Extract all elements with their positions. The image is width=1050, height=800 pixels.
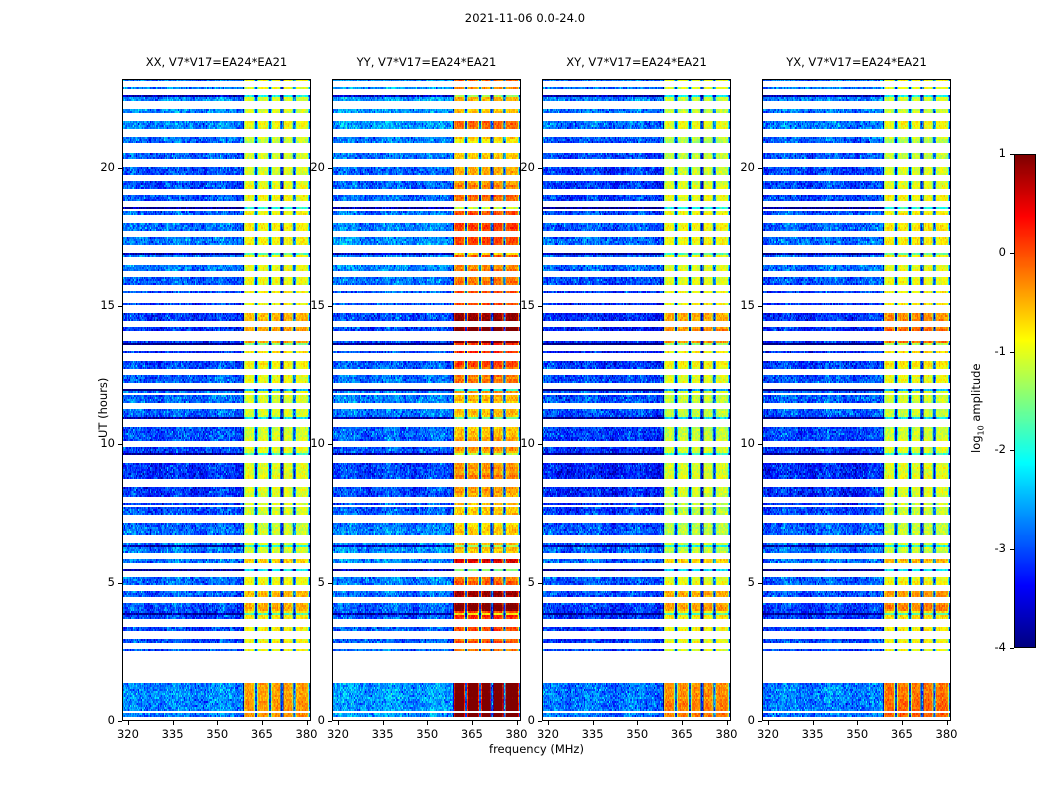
xtick-label-yx-3: 365 [882, 727, 922, 741]
figure-suptitle: 2021-11-06 0.0-24.0 [0, 11, 1050, 25]
ytick-label-yy-0: 0 [291, 713, 325, 727]
colorbar-tick-label-4: 0 [974, 245, 1006, 259]
xtick-label-yy-3: 365 [452, 727, 492, 741]
ytick-mark-yy-4 [328, 168, 332, 169]
spectrogram-image-yx [762, 79, 951, 721]
ytick-mark-yx-2 [758, 444, 762, 445]
xtick-mark-yx-4 [947, 721, 948, 725]
xtick-mark-yx-3 [902, 721, 903, 725]
ytick-label-yy-2: 10 [291, 436, 325, 450]
xtick-mark-xx-3 [262, 721, 263, 725]
ytick-label-xy-1: 5 [501, 575, 535, 589]
ytick-mark-yy-1 [328, 583, 332, 584]
ytick-label-yy-4: 20 [291, 160, 325, 174]
ytick-mark-yx-1 [758, 583, 762, 584]
ytick-label-xx-1: 5 [81, 575, 115, 589]
spectrogram-panel-xy[interactable] [542, 79, 731, 721]
colorbar-tick-mark-4 [1010, 253, 1014, 254]
ytick-mark-xx-4 [118, 168, 122, 169]
xtick-label-yx-4: 380 [927, 727, 967, 741]
colorbar [1014, 154, 1036, 648]
ytick-label-xx-4: 20 [81, 160, 115, 174]
xtick-label-yx-0: 320 [748, 727, 788, 741]
ytick-mark-yx-4 [758, 168, 762, 169]
ytick-label-xx-2: 10 [81, 436, 115, 450]
xtick-label-xx-2: 350 [197, 727, 237, 741]
xtick-label-xx-3: 365 [242, 727, 282, 741]
ytick-label-yx-2: 10 [721, 436, 755, 450]
colorbar-axis-label: log10 amplitude [969, 364, 985, 454]
figure-canvas: 2021-11-06 0.0-24.0 XX, V7*V17=EA24*EA21… [0, 0, 1050, 800]
xtick-mark-xy-2 [637, 721, 638, 725]
panel-title-yy: YY, V7*V17=EA24*EA21 [332, 55, 521, 69]
colorbar-tick-mark-3 [1010, 352, 1014, 353]
ytick-label-xx-3: 15 [81, 298, 115, 312]
colorbar-tick-label-1: -3 [974, 541, 1006, 555]
x-axis-label: frequency (MHz) [122, 742, 951, 756]
colorbar-tick-mark-2 [1010, 450, 1014, 451]
ytick-mark-xy-3 [538, 306, 542, 307]
xtick-label-yx-1: 335 [793, 727, 833, 741]
ytick-label-yx-0: 0 [721, 713, 755, 727]
y-axis-label: UT (hours) [96, 378, 110, 438]
ytick-label-xx-0: 0 [81, 713, 115, 727]
xtick-mark-yy-3 [472, 721, 473, 725]
colorbar-tick-label-0: -4 [974, 640, 1006, 654]
panel-title-yx: YX, V7*V17=EA24*EA21 [762, 55, 951, 69]
ytick-mark-xx-2 [118, 444, 122, 445]
ytick-mark-yx-0 [758, 721, 762, 722]
ytick-mark-yy-2 [328, 444, 332, 445]
ytick-label-yx-1: 5 [721, 575, 755, 589]
colorbar-tick-mark-0 [1010, 648, 1014, 649]
ytick-label-yx-3: 15 [721, 298, 755, 312]
xtick-mark-yx-2 [857, 721, 858, 725]
ytick-mark-xx-3 [118, 306, 122, 307]
xtick-mark-yy-2 [427, 721, 428, 725]
xtick-mark-yy-1 [383, 721, 384, 725]
spectrogram-panel-xx[interactable] [122, 79, 311, 721]
ytick-label-yy-3: 15 [291, 298, 325, 312]
xtick-mark-xx-2 [217, 721, 218, 725]
ytick-label-xy-3: 15 [501, 298, 535, 312]
ytick-label-yx-4: 20 [721, 160, 755, 174]
colorbar-tick-label-3: -1 [974, 344, 1006, 358]
spectrogram-panel-yy[interactable] [332, 79, 521, 721]
ytick-mark-xx-0 [118, 721, 122, 722]
spectrogram-image-xy [542, 79, 731, 721]
ytick-mark-xy-4 [538, 168, 542, 169]
colorbar-tick-mark-1 [1010, 549, 1014, 550]
colorbar-tick-label-5: 1 [974, 146, 1006, 160]
ytick-label-yy-1: 5 [291, 575, 325, 589]
ytick-label-xy-2: 10 [501, 436, 535, 450]
ytick-mark-xy-1 [538, 583, 542, 584]
colorbar-tick-mark-5 [1010, 154, 1014, 155]
xtick-label-xy-4: 380 [707, 727, 747, 741]
xtick-mark-xy-3 [682, 721, 683, 725]
xtick-mark-xx-0 [128, 721, 129, 725]
xtick-mark-yx-0 [768, 721, 769, 725]
colorbar-frame [1014, 154, 1036, 648]
ytick-mark-yx-3 [758, 306, 762, 307]
ytick-mark-xx-1 [118, 583, 122, 584]
xtick-mark-xy-0 [548, 721, 549, 725]
panel-title-xx: XX, V7*V17=EA24*EA21 [122, 55, 311, 69]
ytick-mark-yy-3 [328, 306, 332, 307]
xtick-label-xx-0: 320 [108, 727, 148, 741]
xtick-label-xy-2: 350 [617, 727, 657, 741]
ytick-label-xy-0: 0 [501, 713, 535, 727]
ytick-label-xy-4: 20 [501, 160, 535, 174]
spectrogram-panel-yx[interactable] [762, 79, 951, 721]
xtick-mark-xx-1 [173, 721, 174, 725]
xtick-mark-yx-1 [813, 721, 814, 725]
xtick-mark-yy-0 [338, 721, 339, 725]
ytick-mark-yy-0 [328, 721, 332, 722]
ytick-mark-xy-0 [538, 721, 542, 722]
panel-title-xy: XY, V7*V17=EA24*EA21 [542, 55, 731, 69]
spectrogram-image-xx [122, 79, 311, 721]
spectrogram-image-yy [332, 79, 521, 721]
xtick-label-yx-2: 350 [837, 727, 877, 741]
ytick-mark-xy-2 [538, 444, 542, 445]
xtick-label-xy-0: 320 [528, 727, 568, 741]
xtick-label-yy-0: 320 [318, 727, 358, 741]
xtick-label-yy-1: 335 [363, 727, 403, 741]
xtick-label-xy-1: 335 [573, 727, 613, 741]
xtick-label-xy-3: 365 [662, 727, 702, 741]
xtick-mark-xy-1 [593, 721, 594, 725]
xtick-label-yy-2: 350 [407, 727, 447, 741]
xtick-label-xx-1: 335 [153, 727, 193, 741]
